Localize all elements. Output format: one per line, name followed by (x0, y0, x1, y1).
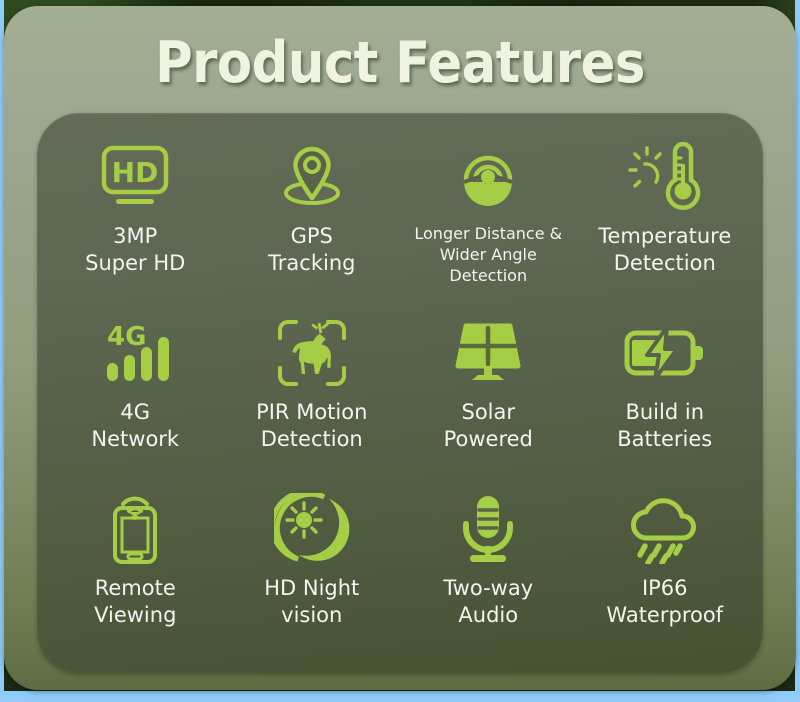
svg-text:4G: 4G (107, 322, 146, 352)
page-title: Product Features (4, 30, 796, 96)
radar-detection-icon (400, 141, 577, 213)
feature-label: PIR Motion Detection (256, 399, 367, 453)
feature-item-temperature: Temperature Detection (577, 135, 754, 311)
solar-panel-icon (400, 317, 577, 389)
map-pin-icon (224, 141, 401, 213)
feature-item-gps-tracking: GPS Tracking (224, 135, 401, 311)
rain-cloud-icon (577, 493, 754, 565)
signal-bars-4g-icon: 4G (47, 317, 224, 389)
thermometer-sun-icon (577, 141, 754, 213)
product-features-panel: Product Features HD 3MP Super HD (4, 6, 796, 690)
moon-sun-icon (224, 493, 401, 565)
features-grid: HD 3MP Super HD GPS Tracking (47, 135, 753, 663)
feature-item-3mp-super-hd: HD 3MP Super HD (47, 135, 224, 311)
microphone-icon (400, 493, 577, 565)
feature-item-remote-viewing: Remote Viewing (47, 487, 224, 663)
feature-item-hd-night-vision: HD Night vision (224, 487, 401, 663)
feature-item-build-in-batteries: Build in Batteries (577, 311, 754, 487)
feature-item-longer-distance: Longer Distance & Wider Angle Detection (400, 135, 577, 311)
feature-item-two-way-audio: Two-way Audio (400, 487, 577, 663)
feature-item-pir-motion: PIR Motion Detection (224, 311, 401, 487)
feature-item-solar-powered: Solar Powered (400, 311, 577, 487)
feature-label: 4G Network (91, 399, 179, 453)
feature-item-4g-network: 4G 4G Network (47, 311, 224, 487)
feature-item-ip66-waterproof: IP66 Waterproof (577, 487, 754, 663)
feature-label: Temperature Detection (598, 223, 731, 277)
features-card: HD 3MP Super HD GPS Tracking (37, 113, 763, 673)
phone-wifi-icon (47, 493, 224, 565)
svg-text:HD: HD (112, 156, 159, 189)
feature-label: Build in Batteries (617, 399, 712, 453)
hd-monitor-icon: HD (47, 141, 224, 213)
feature-label: 3MP Super HD (85, 223, 185, 277)
battery-bolt-icon (577, 317, 754, 389)
feature-label: Two-way Audio (443, 575, 533, 629)
feature-label: Solar Powered (444, 399, 533, 453)
feature-label: Remote Viewing (94, 575, 176, 629)
feature-label: Longer Distance & Wider Angle Detection (400, 223, 577, 286)
deer-frame-icon (224, 317, 401, 389)
feature-label: IP66 Waterproof (606, 575, 723, 629)
feature-label: GPS Tracking (268, 223, 355, 277)
feature-label: HD Night vision (264, 575, 359, 629)
